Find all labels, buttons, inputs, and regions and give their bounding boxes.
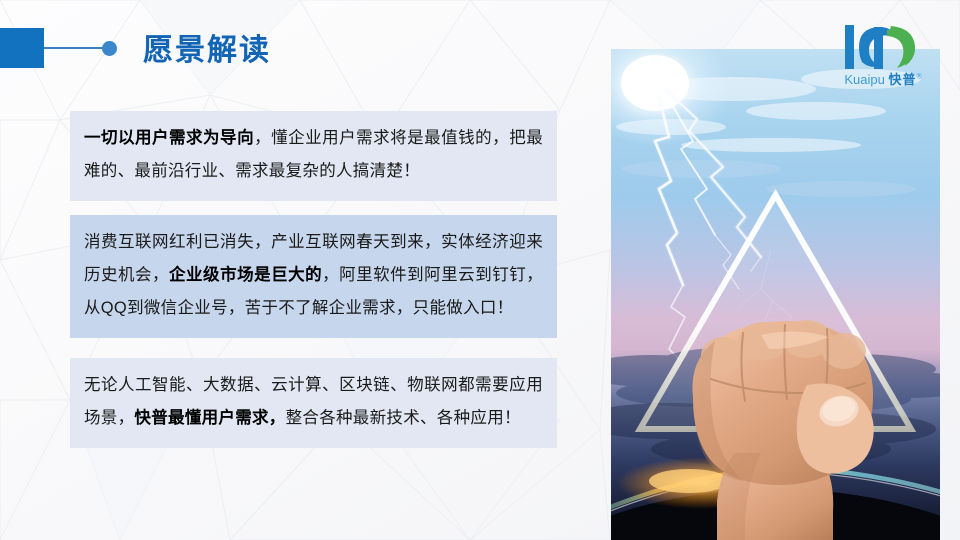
logo-chinese: 快普 [888,72,916,87]
title-accent-dot [102,41,117,56]
brand-logo: Kuaipu 快普® [825,22,941,88]
logo-wordmark: Kuaipu 快普® [825,69,941,88]
content-blocks: 一切以用户需求为导向，懂企业用户需求将是最值钱的，把最难的、最前沿行业、需求最复… [70,111,557,448]
page-title: 愿景解读 [143,25,271,69]
block-3-text-part2: 整合各种最新技术、各种应用！ [286,409,521,427]
block-2-bold: 企业级市场是巨大的 [169,266,322,284]
title-connector-line [44,47,104,49]
content-block-3: 无论人工智能、大数据、云计算、区块链、物联网都需要应用场景，快普最懂用户需求，整… [70,358,557,448]
logo-registered-mark: ® [916,74,921,81]
slide-canvas: 愿景解读 一切以用户需求为导向，懂企业用户需求将是最值钱的，把最难的、最前沿行业… [0,0,960,540]
title-accent-square [0,28,44,68]
slide-title-row: 愿景解读 [0,22,620,82]
logo-latin: Kuaipu [844,72,884,87]
block-3-bold: 快普最懂用户需求， [134,409,285,427]
kuaipu-logo-icon [825,22,941,72]
block-1-bold-lead: 一切以用户需求为导向 [84,129,254,147]
content-block-2: 消费互联网红利已消失，产业互联网春天到来，实体经济迎来历史机会，企业级市场是巨大… [70,215,557,338]
hero-photo [611,49,940,540]
content-block-1: 一切以用户需求为导向，懂企业用户需求将是最值钱的，把最难的、最前沿行业、需求最复… [70,111,557,201]
